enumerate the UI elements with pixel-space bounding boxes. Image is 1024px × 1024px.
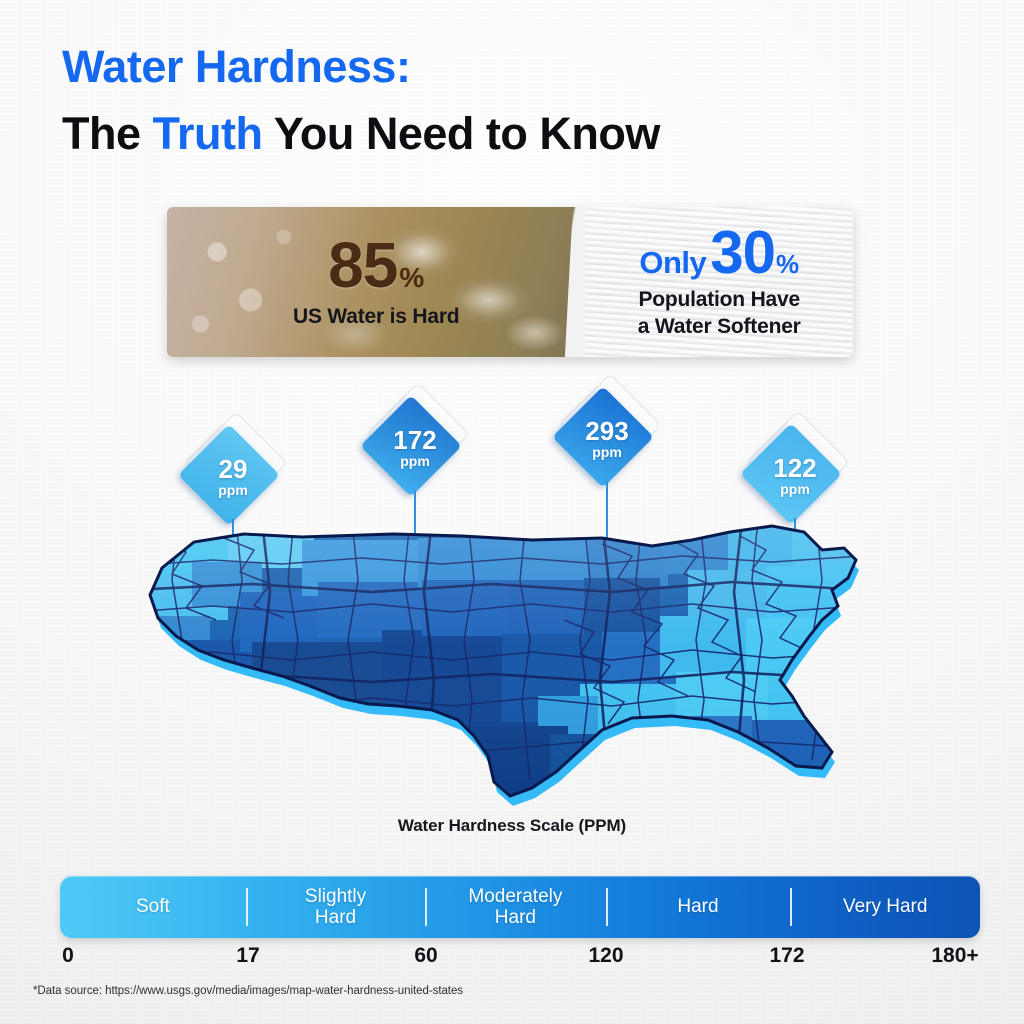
infographic-page: Water Hardness: The Truth You Need to Kn… <box>0 0 1024 1024</box>
softener-caption-line-1: Population Have <box>638 287 800 313</box>
scale-divider <box>425 888 427 926</box>
scale-divider <box>790 888 792 926</box>
hard-water-percent-sign: % <box>399 262 424 294</box>
scale-tick-17: 17 <box>236 944 259 968</box>
scale-segment-moderately-hard[interactable]: Moderately Hard <box>425 876 605 938</box>
scale-segment-slightly-hard[interactable]: Slightly Hard <box>246 876 425 938</box>
scale-title: Water Hardness Scale (PPM) <box>0 816 1024 836</box>
title-line-2: The Truth You Need to Know <box>62 111 660 156</box>
marker-diamond-icon <box>360 395 462 497</box>
scale-segment-hard[interactable]: Hard <box>606 876 791 938</box>
scale-segment-label: Soft <box>136 896 170 917</box>
scale-segment-label: Very Hard <box>843 896 927 917</box>
data-source-footnote: *Data source: https://www.usgs.gov/media… <box>33 985 463 997</box>
scale-segment-label: Slightly Hard <box>305 886 366 929</box>
scale-tick-120: 120 <box>588 944 623 968</box>
title-line-2-pre: The <box>62 108 153 159</box>
scale-segment-very-hard[interactable]: Very Hard <box>790 876 980 938</box>
softener-percent-sign: % <box>776 249 799 280</box>
marker-diamond-icon <box>740 423 842 525</box>
softener-prefix-label: Only <box>639 245 706 281</box>
map-marker-122ppm[interactable]: 122 ppm <box>753 436 837 520</box>
scale-tick-60: 60 <box>414 944 437 968</box>
softener-caption-line-2: a Water Softener <box>638 314 801 340</box>
hardness-scale-bar: Soft Slightly Hard Moderately Hard Hard … <box>60 876 980 938</box>
map-marker-293ppm[interactable]: 293 ppm <box>565 399 649 483</box>
hard-water-percent-value: 85 <box>328 235 397 296</box>
scale-divider <box>606 888 608 926</box>
scale-divider <box>246 888 248 926</box>
us-water-hardness-map <box>132 520 862 810</box>
stats-banner: 85 % US Water is Hard Only 30 % Populati… <box>167 207 853 357</box>
stat-panel-hard-water: 85 % US Water is Hard <box>167 207 585 357</box>
scale-tick-0: 0 <box>62 944 74 968</box>
map-marker-172ppm[interactable]: 172 ppm <box>373 408 457 492</box>
scale-tick-180: 180+ <box>931 944 978 968</box>
marker-diamond-icon <box>552 386 654 488</box>
us-map-svg <box>132 520 862 810</box>
scale-ticks: 0 17 60 120 172 180+ <box>0 944 1024 974</box>
title-line-1: Water Hardness: <box>62 44 660 89</box>
scale-segment-label: Hard <box>677 896 718 917</box>
title-highlight-truth: Truth <box>153 108 263 159</box>
scale-segment-label: Moderately Hard <box>468 886 562 929</box>
hard-water-caption: US Water is Hard <box>293 305 459 329</box>
marker-diamond-icon <box>178 424 280 526</box>
stat-panel-water-softener: Only 30 % Population Have a Water Soften… <box>585 207 853 357</box>
scale-segment-soft[interactable]: Soft <box>60 876 246 938</box>
map-marker-29ppm[interactable]: 29 ppm <box>191 437 275 521</box>
map-outline <box>150 526 856 796</box>
scale-tick-172: 172 <box>769 944 804 968</box>
softener-percent-value: 30 <box>710 224 775 281</box>
title-line-2-post: You Need to Know <box>263 108 660 159</box>
page-title: Water Hardness: The Truth You Need to Kn… <box>62 44 660 156</box>
